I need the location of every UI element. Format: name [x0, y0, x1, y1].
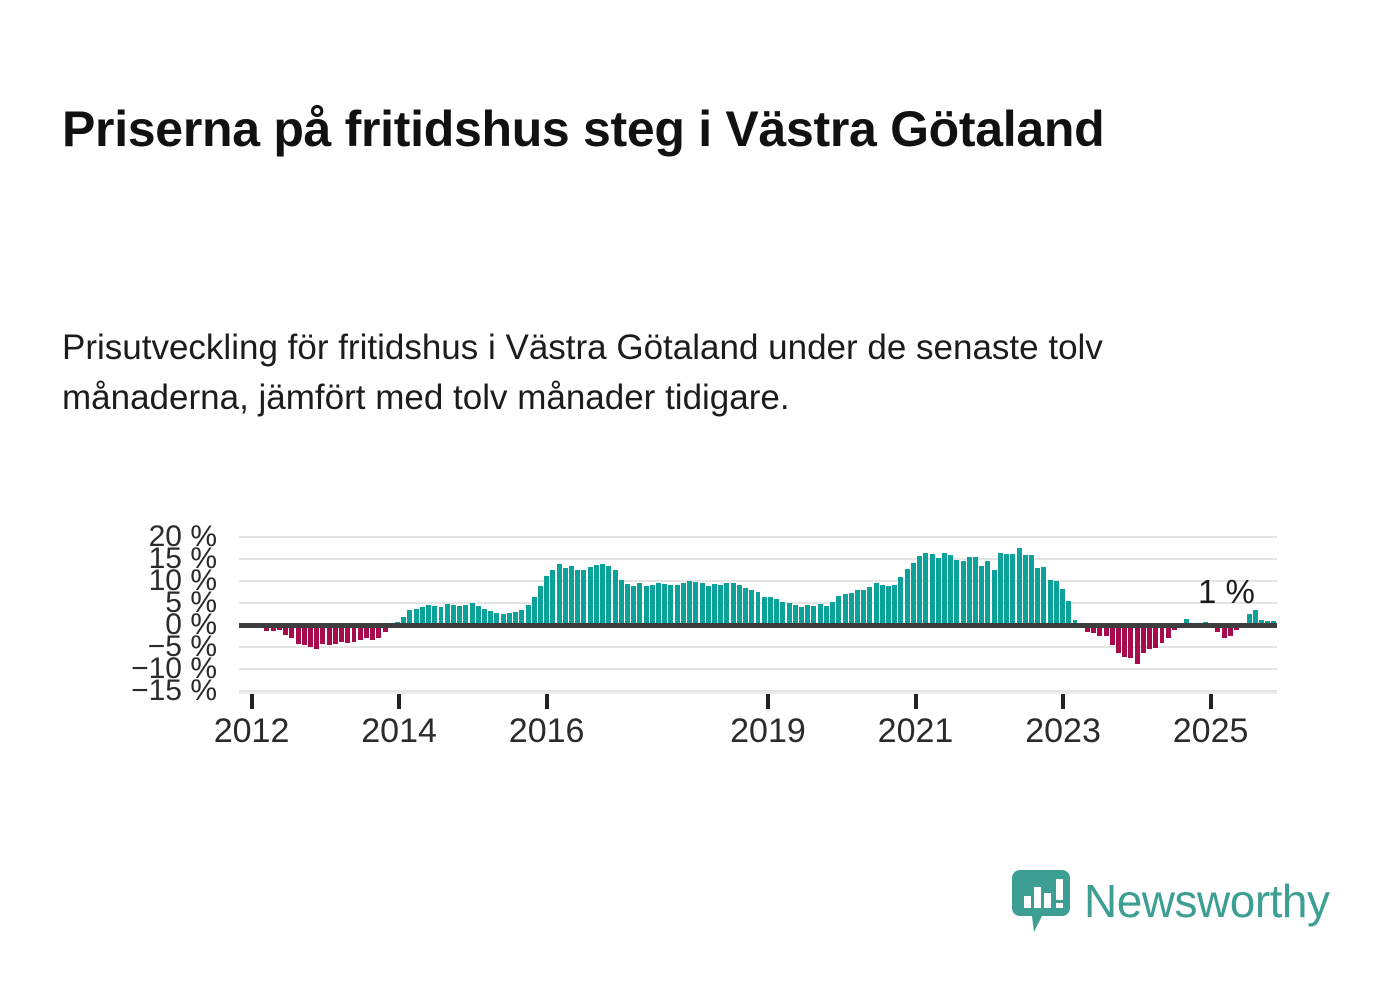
y-axis-tick-label: −15 %	[131, 676, 217, 706]
bar	[930, 554, 935, 625]
x-axis-tick-label: 2016	[509, 714, 585, 748]
bar	[637, 583, 642, 625]
bar	[942, 553, 947, 625]
bar	[917, 556, 922, 625]
bar	[619, 580, 624, 625]
x-axis-line	[239, 692, 1277, 694]
bar	[1023, 555, 1028, 625]
bar	[600, 564, 605, 625]
bar	[793, 605, 798, 625]
logo-wordmark: Newsworthy	[1084, 878, 1330, 924]
bar	[712, 584, 717, 625]
zero-line	[239, 623, 1277, 628]
x-axis-tick	[250, 694, 254, 709]
bar	[737, 585, 742, 625]
bar	[861, 590, 866, 625]
bar	[606, 566, 611, 625]
bar	[445, 604, 450, 625]
bar	[911, 563, 916, 625]
bar	[426, 605, 431, 625]
bar	[1066, 601, 1071, 625]
bar	[662, 584, 667, 625]
bar	[650, 585, 655, 625]
bar	[805, 605, 810, 625]
bar	[594, 565, 599, 625]
bar	[979, 566, 984, 625]
bar	[613, 570, 618, 625]
bar	[463, 605, 468, 625]
bar	[830, 602, 835, 625]
bar	[998, 553, 1003, 625]
bar	[693, 582, 698, 625]
bar	[898, 577, 903, 625]
bar	[581, 570, 586, 625]
bar	[855, 590, 860, 625]
bar	[1017, 548, 1022, 625]
bar	[967, 557, 972, 625]
bar	[1110, 625, 1115, 645]
bar	[892, 585, 897, 625]
bar	[1060, 589, 1065, 625]
bar	[961, 561, 966, 625]
bar	[557, 564, 562, 625]
bar	[923, 553, 928, 625]
bar	[706, 586, 711, 625]
x-axis-tick-label: 2025	[1173, 714, 1249, 748]
bar	[954, 560, 959, 625]
bar	[1054, 581, 1059, 625]
x-axis-tick	[1061, 694, 1065, 709]
bar	[451, 605, 456, 625]
bar	[544, 576, 549, 625]
bar	[575, 570, 580, 625]
x-axis-tick-label: 2014	[361, 714, 437, 748]
bar	[1010, 554, 1015, 625]
bar	[787, 603, 792, 625]
bar	[1035, 568, 1040, 625]
bar	[867, 587, 872, 625]
bar-chart: 20 %15 %10 %5 %0 %−5 %−10 %−15 % 2012201…	[0, 510, 1382, 780]
newsworthy-logo[interactable]: Newsworthy	[1012, 870, 1330, 932]
bar	[550, 570, 555, 625]
bar	[1153, 625, 1158, 648]
bar	[1116, 625, 1121, 653]
bar	[886, 586, 891, 625]
page-subtitle: Prisutveckling för fritidshus i Västra G…	[62, 323, 1262, 422]
bar	[532, 597, 537, 625]
bar	[849, 593, 854, 625]
x-axis-tick	[1209, 694, 1213, 709]
bar	[836, 596, 841, 625]
x-axis-tick-label: 2023	[1025, 714, 1101, 748]
bar	[588, 567, 593, 625]
bar	[700, 583, 705, 625]
bar	[743, 588, 748, 625]
bar-series	[239, 537, 1277, 691]
y-axis-labels: 20 %15 %10 %5 %0 %−5 %−10 %−15 %	[0, 510, 239, 710]
bar	[675, 585, 680, 625]
bar	[948, 555, 953, 625]
bar	[1128, 625, 1133, 658]
bar	[780, 602, 785, 625]
bar	[314, 625, 319, 649]
bar	[985, 561, 990, 625]
bar	[768, 597, 773, 625]
bar	[1048, 580, 1053, 625]
bar	[874, 583, 879, 625]
bar	[1135, 625, 1140, 664]
bar	[656, 583, 661, 625]
bar	[936, 558, 941, 625]
bar	[308, 625, 313, 647]
bar	[631, 586, 636, 625]
bar	[526, 605, 531, 625]
bar	[687, 581, 692, 625]
bar	[843, 594, 848, 625]
bar	[992, 570, 997, 625]
bar-chart-speech-bubble-icon	[1012, 870, 1070, 932]
x-axis-tick-label: 2012	[214, 714, 290, 748]
bar	[569, 566, 574, 625]
bar	[538, 586, 543, 625]
bar	[1004, 554, 1009, 625]
page-title: Priserna på fritidshus steg i Västra Göt…	[62, 100, 1182, 158]
bar	[818, 604, 823, 625]
bar	[668, 585, 673, 625]
bar	[749, 590, 754, 625]
bar	[718, 585, 723, 625]
bar	[1141, 625, 1146, 653]
bar	[302, 625, 307, 645]
x-axis-tick	[545, 694, 549, 709]
bar	[644, 586, 649, 625]
x-axis-tick	[914, 694, 918, 709]
bar	[731, 583, 736, 625]
bar	[1041, 567, 1046, 625]
bar	[724, 583, 729, 625]
bar	[880, 585, 885, 625]
x-axis-tick	[397, 694, 401, 709]
bar	[973, 557, 978, 625]
bar	[1147, 625, 1152, 649]
bar	[774, 599, 779, 625]
x-axis-tick	[766, 694, 770, 709]
bar	[762, 597, 767, 625]
last-value-callout: 1 %	[1198, 575, 1255, 608]
bar	[905, 569, 910, 625]
bar	[470, 603, 475, 625]
bar	[681, 583, 686, 625]
x-axis-tick-label: 2021	[878, 714, 954, 748]
bar	[1122, 625, 1127, 657]
bar	[625, 584, 630, 625]
x-axis-tick-label: 2019	[730, 714, 806, 748]
bar	[563, 568, 568, 625]
plot-area	[239, 537, 1277, 691]
bar	[1029, 555, 1034, 625]
bar	[756, 592, 761, 625]
